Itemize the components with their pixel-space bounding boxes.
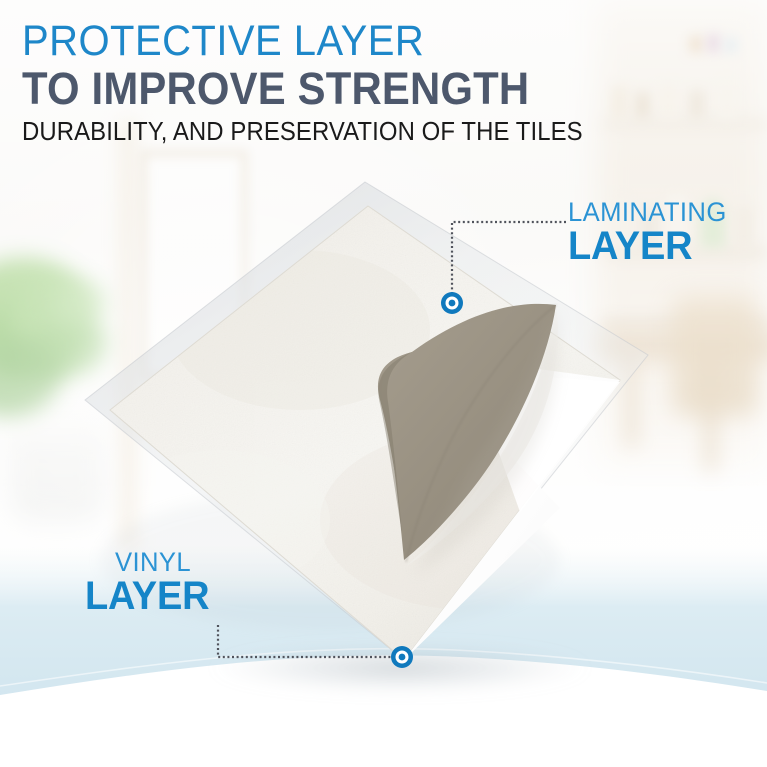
callout-laminating-main-label: LAYER: [568, 226, 727, 267]
headline-line-2: TO IMPROVE STRENGTH: [22, 65, 673, 113]
headline-line-3: DURABILITY, AND PRESERVATION OF THE TILE…: [22, 116, 666, 146]
callout-vinyl-main-label: LAYER: [85, 576, 209, 617]
infographic-canvas: PROTECTIVE LAYER TO IMPROVE STRENGTH DUR…: [0, 0, 767, 767]
headline-block: PROTECTIVE LAYER TO IMPROVE STRENGTH DUR…: [22, 18, 722, 146]
callout-laminating-sub-label: LAMINATING: [568, 198, 727, 226]
callout-vinyl-layer: VINYL LAYER: [85, 548, 216, 617]
callout-laminating-layer: LAMINATING LAYER: [568, 198, 735, 267]
callout-vinyl-sub-label: VINYL: [115, 548, 211, 576]
headline-line-1: PROTECTIVE LAYER: [22, 18, 673, 64]
